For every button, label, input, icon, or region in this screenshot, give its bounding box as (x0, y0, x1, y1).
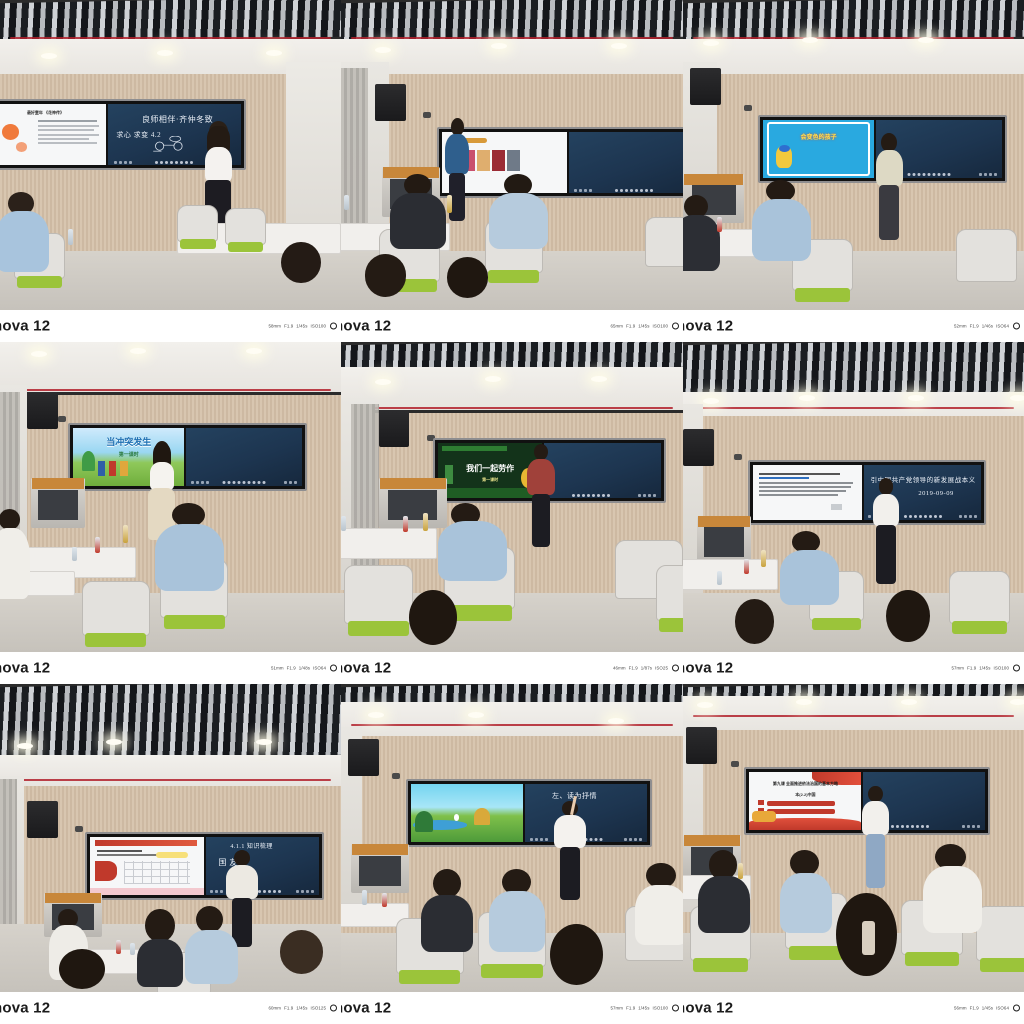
exif-shutter: 1/87s (641, 666, 652, 671)
exif-focal: 57mm (951, 666, 964, 671)
whiteboard-panel-7[interactable]: 4.1.1 知识梳理 国 友谊 (206, 837, 319, 895)
teacher-figure-3 (874, 133, 905, 242)
audience-figure (184, 906, 239, 986)
exif-aperture: F1.9 (284, 1006, 293, 1011)
exif-aperture: F1.9 (970, 324, 979, 329)
exif-info-4: 51mm F1.9 1/48s ISO64 (271, 665, 337, 672)
brand-watermark: nova 12 (683, 660, 733, 677)
exif-iso: ISO25 (655, 666, 668, 671)
slide-panel-6 (753, 465, 862, 520)
exif-info-1: 58mm F1.9 1/45s ISO100 (268, 323, 337, 330)
exif-shutter: 1/45s (982, 1006, 993, 1011)
exif-aperture: F1.9 (967, 666, 976, 671)
exif-focal: 56mm (954, 1006, 967, 1011)
exif-focal: 51mm (271, 666, 284, 671)
photo-cell-2[interactable]: nova 12 65mm F1.9 1/45s ISO100 (341, 0, 683, 342)
audience-figure (724, 599, 785, 652)
slide-panel-8 (411, 784, 523, 842)
audience-figure (396, 590, 471, 652)
leica-lens-icon (330, 323, 337, 330)
audience-figure (635, 863, 683, 949)
wall-red-trim (693, 407, 1014, 409)
exif-iso: ISO100 (994, 666, 1010, 671)
brand-watermark: nova 12 (683, 1000, 733, 1017)
camera-icon (58, 416, 66, 422)
lectern (351, 844, 409, 893)
exif-info-2: 65mm F1.9 1/45s ISO100 (610, 323, 679, 330)
audience-figure (778, 850, 833, 936)
wall-red-trim (10, 389, 331, 391)
speaker-icon (690, 68, 721, 105)
speaker-icon (348, 739, 379, 776)
leica-lens-icon (1013, 1005, 1020, 1012)
leica-lens-icon (672, 323, 679, 330)
exif-aperture: F1.9 (626, 1006, 635, 1011)
ceiling-grille (0, 684, 341, 761)
photo-cell-7[interactable]: 4.1.1 知识梳理 国 友谊 (0, 684, 341, 1024)
wall-red-trim (351, 724, 672, 726)
audience-figure (539, 924, 614, 992)
exif-shutter: 1/45s (638, 1006, 649, 1011)
audience-figure (355, 254, 417, 310)
photo-footer-3: nova 12 52mm F1.9 1/46s ISO64 (683, 310, 1024, 342)
brand-watermark: nova 12 (0, 1000, 50, 1017)
audience-figure (751, 180, 812, 267)
camera-icon (75, 826, 83, 832)
audience-figure (683, 195, 721, 276)
camera-icon (734, 454, 742, 460)
exif-iso: ISO64 (996, 1006, 1009, 1011)
whiteboard-panel-4[interactable] (186, 428, 302, 486)
photo-image-9: 第九课 全面推进依法治国的基本方略 本(2.2)中国 (683, 684, 1024, 992)
exif-aperture: F1.9 (626, 324, 635, 329)
audience-figure (273, 930, 334, 992)
leica-lens-icon (672, 1005, 679, 1012)
exif-focal: 60mm (268, 1006, 281, 1011)
audience-figure (136, 909, 184, 989)
photo-footer-8: nova 12 57mm F1.9 1/45s ISO100 (341, 992, 683, 1024)
speaker-icon (683, 429, 714, 466)
ceiling-soffit (683, 39, 1024, 79)
photo-cell-4[interactable]: 当冲突发生 第一课时 (0, 342, 341, 684)
exif-focal: 57mm (610, 1006, 623, 1011)
brand-watermark: nova 12 (341, 660, 391, 677)
wall-red-trim (693, 37, 1014, 39)
photo-cell-9[interactable]: 第九课 全面推进依法治国的基本方略 本(2.2)中国 (683, 684, 1024, 1024)
audience-figure (437, 257, 499, 310)
wall-red-trim (10, 37, 331, 39)
teacher-figure-5 (526, 444, 557, 549)
leica-lens-icon (672, 665, 679, 672)
photo-footer-7: nova 12 60mm F1.9 1/45s ISO125 (0, 992, 341, 1024)
photo-image-2 (341, 0, 683, 310)
leica-lens-icon (1013, 323, 1020, 330)
camera-icon (731, 761, 739, 767)
exif-aperture: F1.9 (629, 666, 638, 671)
ceiling-grille (683, 342, 1024, 398)
photo-image-1: 最好童年 《花神传》 良师相伴·齐仲冬致 求心 求变 4.2 (0, 0, 341, 310)
wall-red-trim (693, 715, 1014, 717)
photo-footer-6: nova 12 57mm F1.9 1/45s ISO100 (683, 652, 1024, 684)
ceiling-soffit (341, 367, 683, 410)
audience-figure (697, 850, 752, 936)
audience-figure (922, 844, 983, 936)
photo-image-4: 当冲突发生 第一课时 (0, 342, 341, 652)
speaker-icon (27, 392, 58, 429)
audience-figure (488, 869, 546, 955)
wall-red-trim (351, 37, 672, 39)
interactive-display-4[interactable]: 当冲突发生 第一课时 (68, 423, 307, 491)
exif-shutter: 1/45s (296, 324, 307, 329)
brand-watermark: nova 12 (0, 318, 50, 335)
speaker-icon (27, 801, 58, 838)
exif-info-8: 57mm F1.9 1/45s ISO100 (610, 1005, 679, 1012)
audience-figure (266, 242, 334, 310)
audience-figure (437, 503, 509, 584)
audience-figure (420, 869, 475, 955)
photo-cell-6[interactable]: 引中国共产党领导的新发展战本义 2019-09-09 (683, 342, 1024, 684)
photo-cell-3[interactable]: 会变色的孩子 (683, 0, 1024, 342)
exif-focal: 52mm (954, 324, 967, 329)
photo-image-8: 左、读为抒情 (341, 684, 683, 992)
photo-footer-5: nova 12 46mm F1.9 1/87s ISO25 (341, 652, 683, 684)
exif-shutter: 1/45s (979, 666, 990, 671)
brand-watermark: nova 12 (683, 318, 733, 335)
exif-aperture: F1.9 (284, 324, 293, 329)
leica-lens-icon (1013, 665, 1020, 672)
ceiling-soffit (341, 39, 683, 79)
photo-image-5: 我们一起劳作 第一课时 (341, 342, 683, 652)
photo-footer-1: nova 12 58mm F1.9 1/45s ISO100 (0, 310, 341, 342)
lectern (697, 516, 752, 566)
audience-figure (874, 590, 942, 652)
brand-watermark: nova 12 (341, 1000, 391, 1017)
audience-figure (826, 893, 908, 992)
exif-iso: ISO64 (996, 324, 1009, 329)
exif-info-5: 46mm F1.9 1/87s ISO25 (613, 665, 679, 672)
speaker-icon (686, 727, 717, 764)
photo-image-6: 引中国共产党领导的新发展战本义 2019-09-09 (683, 342, 1024, 652)
leica-lens-icon (330, 1005, 337, 1012)
audience-figure (0, 192, 51, 279)
exif-shutter: 1/46s (982, 324, 993, 329)
exif-aperture: F1.9 (970, 1006, 979, 1011)
slide-panel-9: 第九课 全面推进依法治国的基本方略 本(2.2)中国 (749, 772, 861, 830)
teacher-figure-9 (860, 786, 891, 891)
audience-figure (48, 949, 116, 992)
exif-iso: ISO125 (311, 1006, 327, 1011)
exif-focal: 58mm (268, 324, 281, 329)
slide-panel-7 (90, 837, 203, 895)
interactive-display-7[interactable]: 4.1.1 知识梳理 国 友谊 (85, 832, 324, 900)
interactive-display-2[interactable] (437, 127, 683, 198)
exif-aperture: F1.9 (287, 666, 296, 671)
photo-cell-1[interactable]: 最好童年 《花神传》 良师相伴·齐仲冬致 求心 求变 4.2 (0, 0, 341, 342)
exif-iso: ISO64 (313, 666, 326, 671)
brand-watermark: nova 12 (0, 660, 50, 677)
audience-figure (488, 174, 550, 255)
exif-focal: 46mm (613, 666, 626, 671)
camera-icon (744, 105, 752, 111)
photo-image-3: 会变色的孩子 (683, 0, 1024, 310)
exif-info-7: 60mm F1.9 1/45s ISO125 (268, 1005, 337, 1012)
slide-panel-3: 会变色的孩子 (763, 120, 874, 178)
exif-shutter: 1/45s (638, 324, 649, 329)
camera-icon (423, 112, 431, 118)
photo-grid: 最好童年 《花神传》 良师相伴·齐仲冬致 求心 求变 4.2 (0, 0, 1024, 1024)
speaker-icon (375, 84, 406, 121)
camera-icon (392, 773, 400, 779)
audience-figure (0, 509, 31, 602)
photo-footer-2: nova 12 65mm F1.9 1/45s ISO100 (341, 310, 683, 342)
exif-focal: 65mm (610, 324, 623, 329)
exif-iso: ISO100 (653, 324, 669, 329)
exif-shutter: 1/48s (299, 666, 310, 671)
photo-footer-9: nova 12 56mm F1.9 1/45s ISO64 (683, 992, 1024, 1024)
leica-lens-icon (330, 665, 337, 672)
slide-panel-1: 最好童年 《花神传》 (0, 104, 106, 165)
photo-cell-8[interactable]: 左、读为抒情 (341, 684, 683, 1024)
exif-iso: ISO100 (311, 324, 327, 329)
photo-image-7: 4.1.1 知识梳理 国 友谊 (0, 684, 341, 992)
teacher-figure-6 (871, 478, 902, 587)
whiteboard-panel-5[interactable] (544, 443, 661, 498)
window-curtain (341, 68, 368, 242)
exif-info-3: 52mm F1.9 1/46s ISO64 (954, 323, 1020, 330)
audience-figure (153, 503, 225, 596)
ceiling-soffit (0, 342, 341, 392)
whiteboard-panel-2[interactable] (569, 132, 683, 193)
interactive-display-6[interactable]: 引中国共产党领导的新发展战本义 2019-09-09 (748, 460, 987, 525)
interactive-display-8[interactable]: 左、读为抒情 (406, 779, 652, 847)
ceiling-soffit (341, 702, 683, 739)
lectern (31, 478, 86, 528)
exif-iso: ISO100 (653, 1006, 669, 1011)
brand-watermark: nova 12 (341, 318, 391, 335)
speaker-icon (379, 410, 410, 447)
audience-figure (389, 174, 447, 255)
teacher-figure-8 (553, 798, 587, 903)
photo-cell-5[interactable]: 我们一起劳作 第一课时 (341, 342, 683, 684)
exif-info-9: 56mm F1.9 1/45s ISO64 (954, 1005, 1020, 1012)
exif-info-6: 57mm F1.9 1/45s ISO100 (951, 665, 1020, 672)
exif-shutter: 1/45s (296, 1006, 307, 1011)
wall-red-trim (351, 407, 672, 409)
photo-footer-4: nova 12 51mm F1.9 1/48s ISO64 (0, 652, 341, 684)
audience-figure (778, 531, 839, 609)
